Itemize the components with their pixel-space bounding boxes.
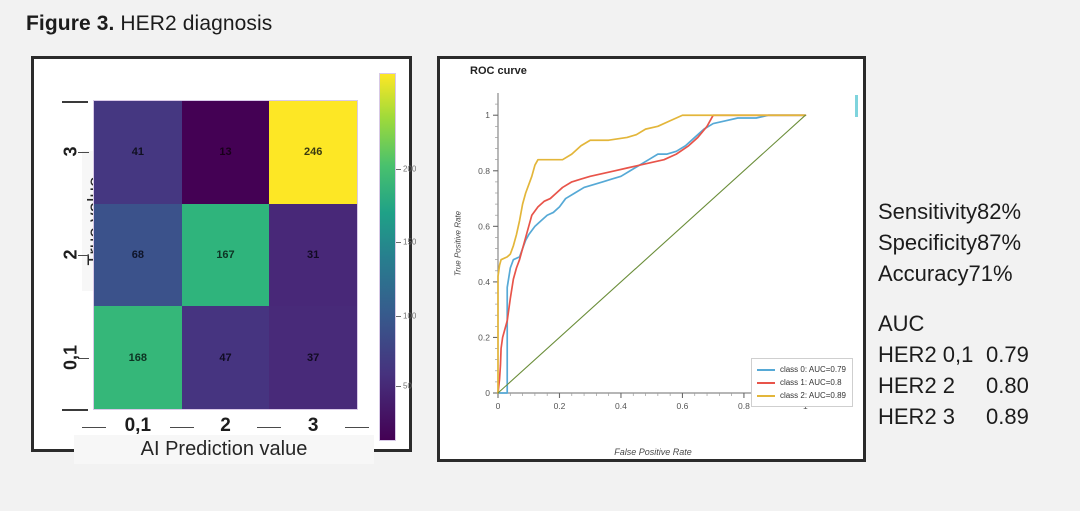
confusion-matrix-axis-end-mark — [62, 409, 88, 411]
colorbar: 20015010050 — [379, 73, 413, 441]
roc-y-tick-label: 0.2 — [478, 332, 490, 342]
stat-label: Specificity — [878, 227, 977, 258]
roc-x-tick-label: 0.8 — [738, 401, 750, 411]
stat-value: 87% — [977, 227, 1021, 258]
roc-legend-swatch — [757, 395, 775, 397]
confusion-matrix-panel: True value 320,1 411324668167311684737 0… — [31, 56, 412, 452]
colorbar-tick-label: 150 — [403, 238, 416, 247]
stat-row: Sensitivity 82% — [878, 196, 1078, 227]
confusion-matrix-inner: True value 320,1 411324668167311684737 0… — [34, 59, 409, 449]
roc-y-tick-label: 0 — [485, 388, 490, 398]
confusion-matrix-cell-value: 167 — [216, 249, 234, 261]
confusion-matrix-cell-value: 37 — [307, 352, 319, 364]
colorbar-tick-mark — [396, 316, 401, 317]
roc-x-tick-label: 0.6 — [677, 401, 689, 411]
auc-label: HER2 3 — [878, 401, 986, 432]
stats-panel: Sensitivity 82%Specificity 87%Accuracy 7… — [878, 196, 1078, 433]
colorbar-tick-mark — [396, 169, 401, 170]
confusion-matrix-cell-value: 246 — [304, 146, 322, 158]
confusion-matrix-x-tick-mark — [345, 427, 369, 428]
confusion-matrix-cell: 13 — [182, 101, 270, 204]
confusion-matrix-y-tick-mark — [78, 152, 89, 153]
roc-y-tick-label: 0.8 — [478, 166, 490, 176]
stat-label: Accuracy — [878, 258, 968, 289]
roc-legend-swatch — [757, 369, 775, 371]
colorbar-tick-mark — [396, 386, 401, 387]
roc-legend: class 0: AUC=0.79class 1: AUC=0.8class 2… — [751, 358, 853, 407]
roc-x-tick-label: 0.4 — [615, 401, 627, 411]
roc-legend-label: class 2: AUC=0.89 — [780, 391, 846, 400]
stats-metric-list: Sensitivity 82%Specificity 87%Accuracy 7… — [878, 196, 1078, 290]
confusion-matrix-axis-end-mark — [62, 101, 88, 103]
roc-legend-swatch — [757, 382, 775, 384]
confusion-matrix-grid: 411324668167311684737 — [94, 101, 357, 409]
confusion-matrix-y-tick-mark — [78, 255, 89, 256]
figure-caption: Figure 3.HER2 diagnosis — [26, 12, 272, 36]
roc-y-axis-label: True Positive Rate — [454, 184, 463, 304]
stat-label: Sensitivity — [878, 196, 977, 227]
roc-legend-item: class 2: AUC=0.89 — [757, 389, 846, 402]
auc-row: HER2 0,10.79 — [878, 339, 1078, 370]
auc-value: 0.79 — [986, 342, 1029, 367]
confusion-matrix-cell: 37 — [269, 306, 357, 409]
auc-value: 0.89 — [986, 404, 1029, 429]
confusion-matrix-x-axis-label: AI Prediction value — [74, 435, 374, 464]
roc-legend-label: class 0: AUC=0.79 — [780, 365, 846, 374]
confusion-matrix-cell: 68 — [94, 204, 182, 307]
confusion-matrix-x-tick-label: 3 — [288, 415, 338, 437]
confusion-matrix-cell: 168 — [94, 306, 182, 409]
confusion-matrix-x-tick-label: 2 — [201, 415, 251, 437]
confusion-matrix-x-tick-label: 0,1 — [113, 415, 163, 437]
colorbar-gradient — [379, 73, 396, 441]
confusion-matrix-cell: 41 — [94, 101, 182, 204]
confusion-matrix-y-tick-mark — [78, 358, 89, 359]
roc-teal-marker — [855, 95, 858, 117]
auc-label: HER2 0,1 — [878, 339, 986, 370]
figure-page: Figure 3.HER2 diagnosis True value 320,1… — [0, 0, 1080, 511]
roc-legend-item: class 1: AUC=0.8 — [757, 376, 846, 389]
figure-caption-text: HER2 diagnosis — [120, 12, 272, 35]
colorbar-tick-label: 100 — [403, 311, 416, 320]
roc-x-axis-label: False Positive Rate — [468, 447, 838, 457]
auc-row: HER2 30.89 — [878, 401, 1078, 432]
confusion-matrix-cell: 31 — [269, 204, 357, 307]
stat-value: 71% — [968, 258, 1012, 289]
confusion-matrix-cell-value: 168 — [129, 352, 147, 364]
confusion-matrix-x-tick-mark — [257, 427, 281, 428]
stat-row: Specificity 87% — [878, 227, 1078, 258]
colorbar-tick-mark — [396, 242, 401, 243]
roc-x-tick-label: 0 — [496, 401, 501, 411]
confusion-matrix-cell: 246 — [269, 101, 357, 204]
auc-heading: AUC — [878, 308, 1078, 339]
confusion-matrix-x-tick-mark — [82, 427, 106, 428]
confusion-matrix-cell: 167 — [182, 204, 270, 307]
auc-row: HER2 20.80 — [878, 370, 1078, 401]
roc-x-tick-label: 0.2 — [554, 401, 566, 411]
roc-y-tick-label: 1 — [485, 110, 490, 120]
roc-panel: ROC curve 00.20.40.60.8100.20.40.60.81 T… — [437, 56, 866, 462]
colorbar-tick-label: 50 — [403, 381, 412, 390]
roc-title: ROC curve — [470, 65, 527, 77]
colorbar-tick-label: 200 — [403, 164, 416, 173]
confusion-matrix-cell-value: 13 — [219, 146, 231, 158]
stat-value: 82% — [977, 196, 1021, 227]
roc-y-tick-label: 0.6 — [478, 221, 490, 231]
auc-value: 0.80 — [986, 373, 1029, 398]
roc-legend-item: class 0: AUC=0.79 — [757, 363, 846, 376]
roc-legend-label: class 1: AUC=0.8 — [780, 378, 842, 387]
confusion-matrix-cell-value: 68 — [132, 249, 144, 261]
confusion-matrix-x-tick-mark — [170, 427, 194, 428]
figure-caption-number: Figure 3. — [26, 12, 114, 35]
auc-list: HER2 0,10.79HER2 20.80HER2 30.89 — [878, 339, 1078, 433]
confusion-matrix-cell-value: 31 — [307, 249, 319, 261]
confusion-matrix-cell-value: 41 — [132, 146, 144, 158]
confusion-matrix-cell-value: 47 — [219, 352, 231, 364]
confusion-matrix-cell: 47 — [182, 306, 270, 409]
roc-y-tick-label: 0.4 — [478, 277, 490, 287]
stat-row: Accuracy 71% — [878, 258, 1078, 289]
auc-label: HER2 2 — [878, 370, 986, 401]
